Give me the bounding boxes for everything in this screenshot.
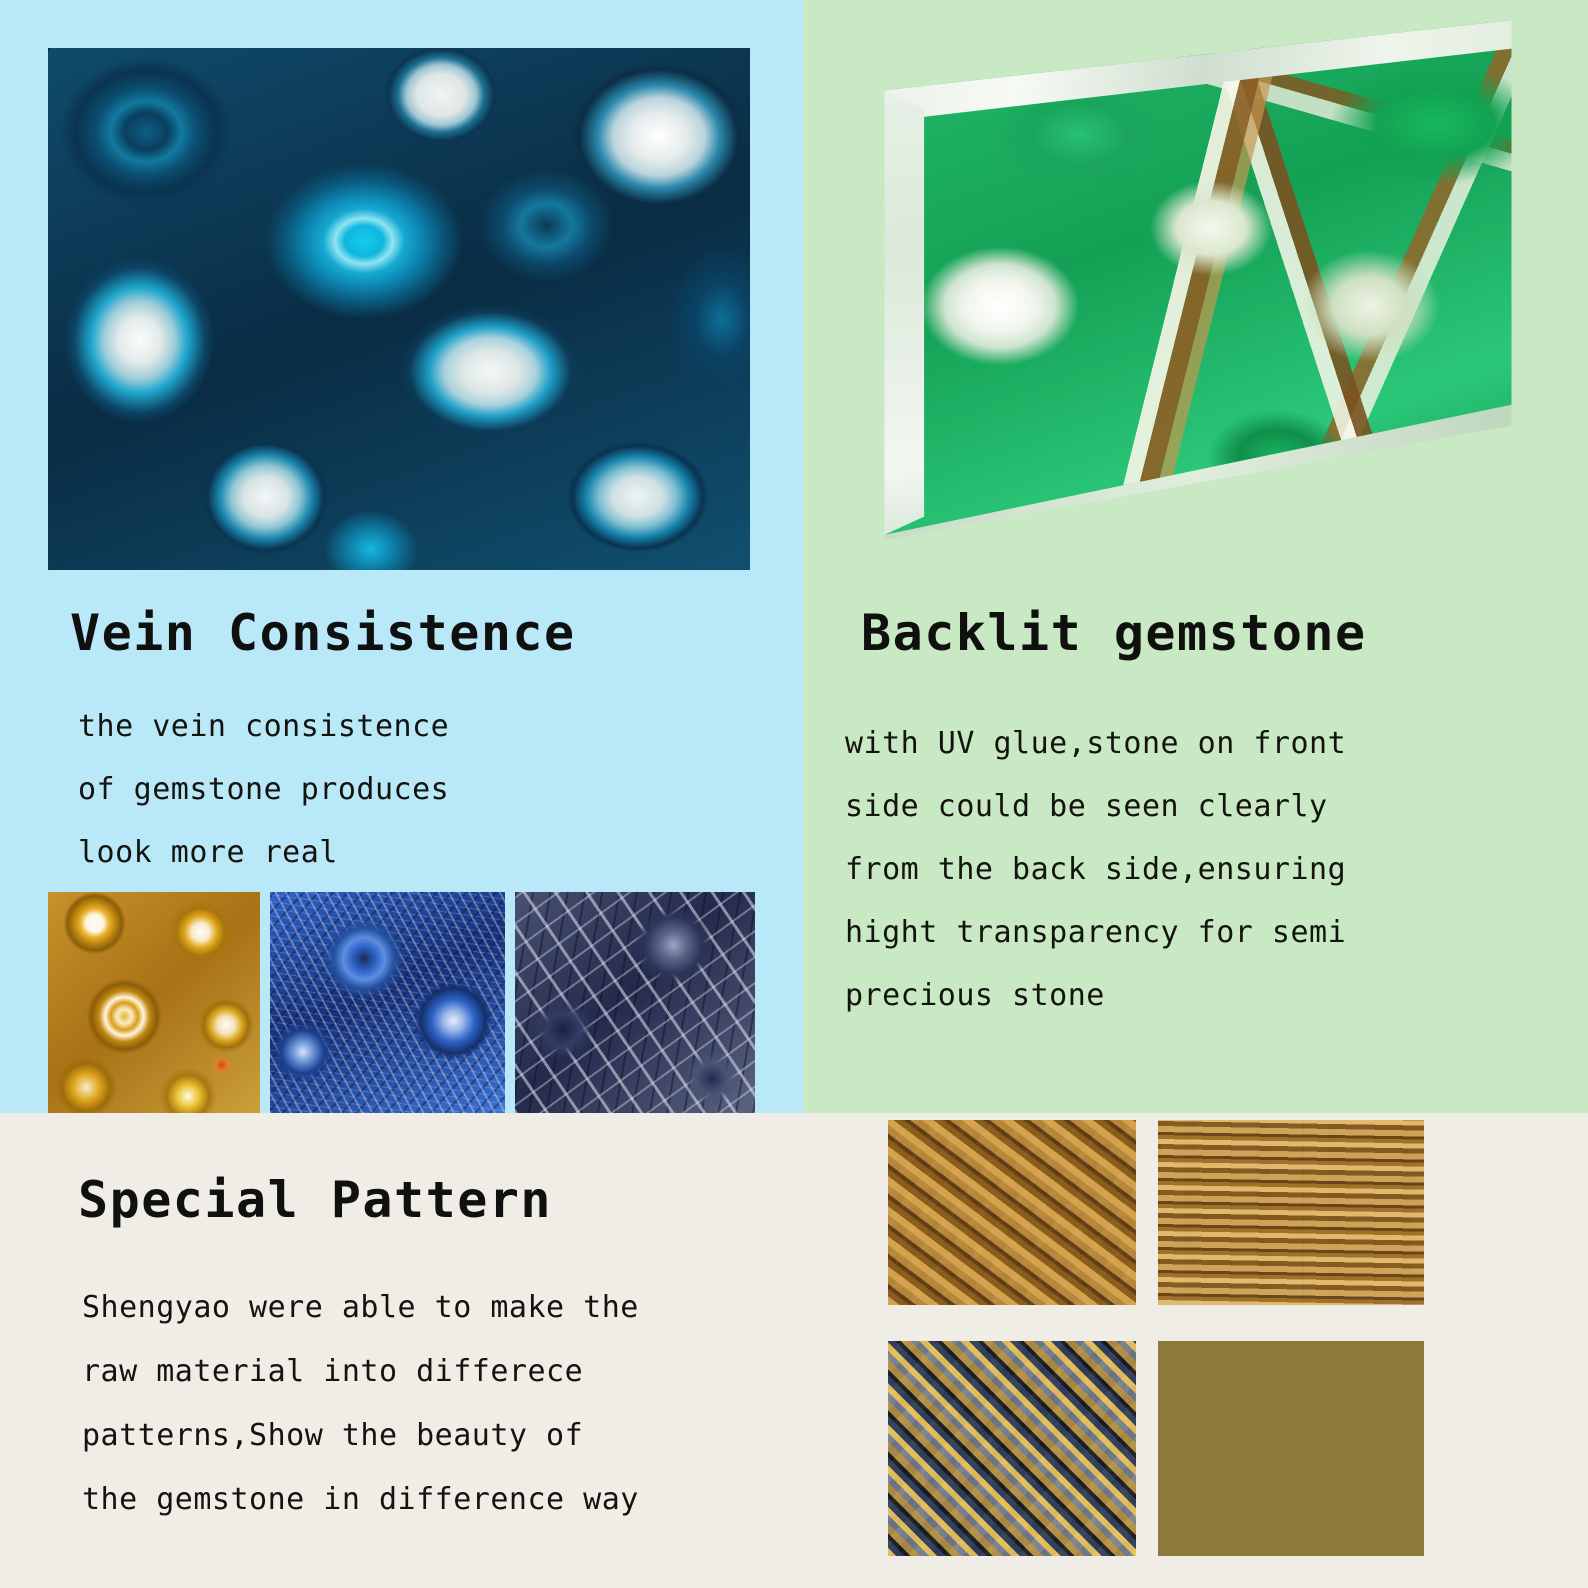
vein-consistence-body-line-2: of gemstone produces xyxy=(78,758,449,821)
backlit-body-line-4: hight transparency for semi xyxy=(845,901,1346,964)
panel-backlit-gemstone: Backlit gemstone with UV glue,stone on f… xyxy=(803,0,1588,1113)
blue-crystal-thumbnail xyxy=(270,892,505,1114)
special-pattern-body-line-1: Shengyao were able to make the xyxy=(82,1276,639,1339)
backlit-body-line-2: side could be seen clearly xyxy=(845,775,1328,838)
backlit-body-line-1: with UV glue,stone on front xyxy=(845,712,1346,775)
yellow-agate-thumbnail xyxy=(48,892,260,1114)
blue-agate-slab-photo xyxy=(48,48,750,570)
panel-vein-consistence: Vein Consistence the vein consistence of… xyxy=(0,0,803,1113)
sodalite-thumbnail xyxy=(515,892,755,1114)
random-brown-pattern-tile xyxy=(888,1120,1136,1305)
horizontal-strip-pattern-tile xyxy=(1158,1120,1424,1305)
backlit-gemstone-heading: Backlit gemstone xyxy=(861,608,1367,658)
herringbone-pattern-tile xyxy=(888,1341,1136,1556)
backlit-body-line-3: from the back side,ensuring xyxy=(845,838,1346,901)
vein-consistence-body-line-3: look more real xyxy=(78,821,338,884)
special-pattern-heading: Special Pattern xyxy=(78,1175,552,1225)
random-mixed-pattern-tile xyxy=(1158,1341,1424,1556)
green-gemstone-slab-photo xyxy=(868,20,1528,540)
infographic-page: Vein Consistence the vein consistence of… xyxy=(0,0,1588,1588)
special-pattern-body-line-3: patterns,Show the beauty of xyxy=(82,1404,583,1467)
vein-consistence-body-line-1: the vein consistence xyxy=(78,695,449,758)
special-pattern-body-line-4: the gemstone in difference way xyxy=(82,1468,639,1531)
special-pattern-body-line-2: raw material into differece xyxy=(82,1340,583,1403)
backlit-body-line-5: precious stone xyxy=(845,964,1105,1027)
vein-consistence-heading: Vein Consistence xyxy=(70,608,576,658)
panel-special-pattern: Special Pattern Shengyao were able to ma… xyxy=(0,1113,1588,1588)
